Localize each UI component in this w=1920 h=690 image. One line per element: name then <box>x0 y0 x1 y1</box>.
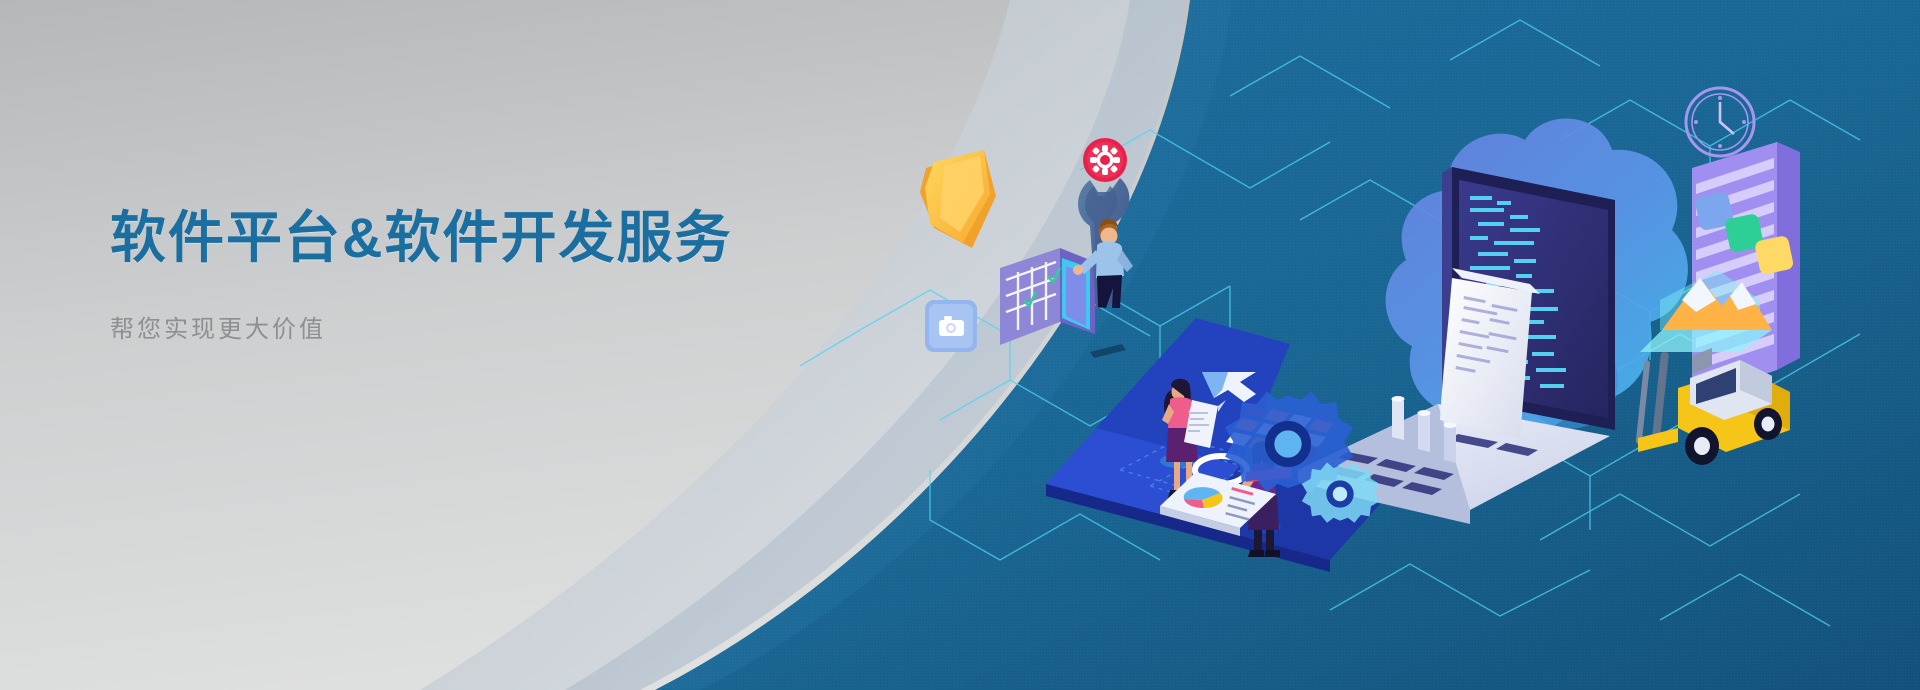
floating-chip <box>1090 344 1126 358</box>
page-title: 软件平台&软件开发服务 <box>110 205 830 271</box>
checklist-panel <box>1000 248 1095 345</box>
clock-icon <box>1686 88 1754 156</box>
page-subtitle: 帮您实现更大价值 <box>110 313 830 347</box>
hero-banner: 软件平台&软件开发服务 帮您实现更大价值 <box>0 0 1920 690</box>
hero-text-block: 软件平台&软件开发服务 帮您实现更大价值 <box>110 205 830 347</box>
gear-badge-icon <box>1083 138 1127 182</box>
shield-icon <box>920 150 996 248</box>
camera-icon <box>925 300 977 352</box>
